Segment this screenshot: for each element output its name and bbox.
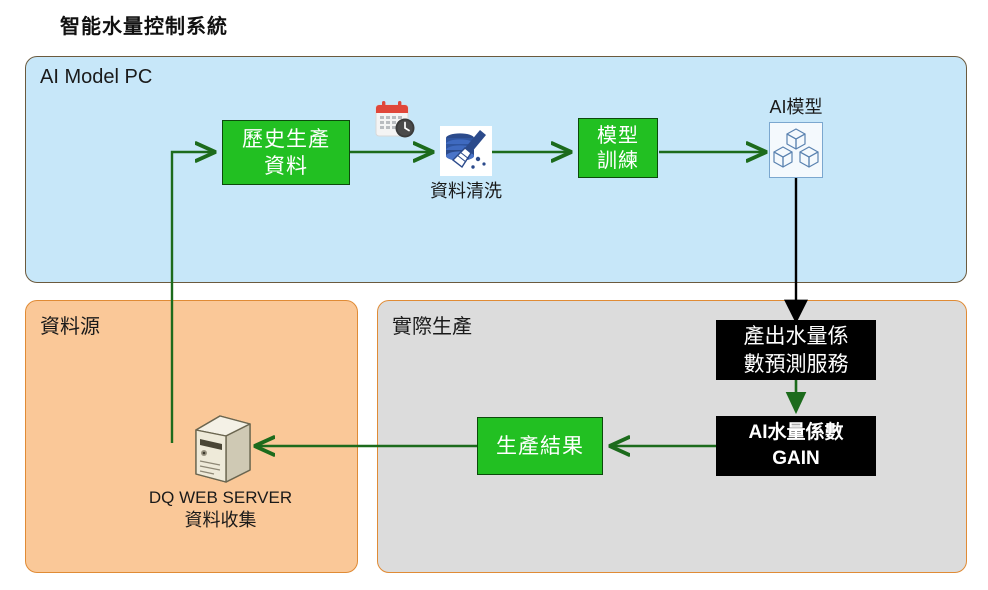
calendar-clock-icon [374,100,418,140]
cubes-icon [769,122,823,178]
diagram-canvas: 智能水量控制系統 AI Model PC 資料源 實際生產 [0,0,988,590]
server-tower-icon [192,412,254,484]
model-training-line2: 訓練 [597,148,639,172]
group-ai-model-pc [25,56,967,283]
node-production-result[interactable]: 生產結果 [477,417,603,475]
historical-data-line1: 歷史生產 [242,127,330,151]
data-cleaning-label: 資料清洗 [416,180,516,203]
node-historical-data[interactable]: 歷史生產 資料 [222,120,350,185]
prediction-service-line1: 產出水量係 [744,324,849,348]
model-training-line1: 模型 [597,123,639,147]
group-label-ai-model-pc: AI Model PC [40,66,152,89]
ai-model-label: AI模型 [746,96,846,119]
group-label-data-source: 資料源 [40,310,100,339]
node-ai-gain[interactable]: AI水量係數 GAIN [716,416,876,476]
production-result-label: 生產結果 [496,433,584,459]
node-prediction-service[interactable]: 產出水量係 數預測服務 [716,320,876,380]
node-model-training[interactable]: 模型 訓練 [578,118,658,178]
dq-web-server-subtitle: 資料收集 [148,509,293,532]
group-actual-production [377,300,967,573]
dq-web-server-name: DQ WEB SERVER [148,487,293,509]
historical-data-line2: 資料 [264,154,308,178]
group-label-actual-production: 實際生產 [392,310,472,339]
database-broom-icon [440,126,492,176]
page-title: 智能水量控制系統 [60,10,228,39]
ai-gain-line2: GAIN [772,448,820,469]
prediction-service-line2: 數預測服務 [744,352,849,376]
ai-gain-line1: AI水量係數 [748,422,843,443]
